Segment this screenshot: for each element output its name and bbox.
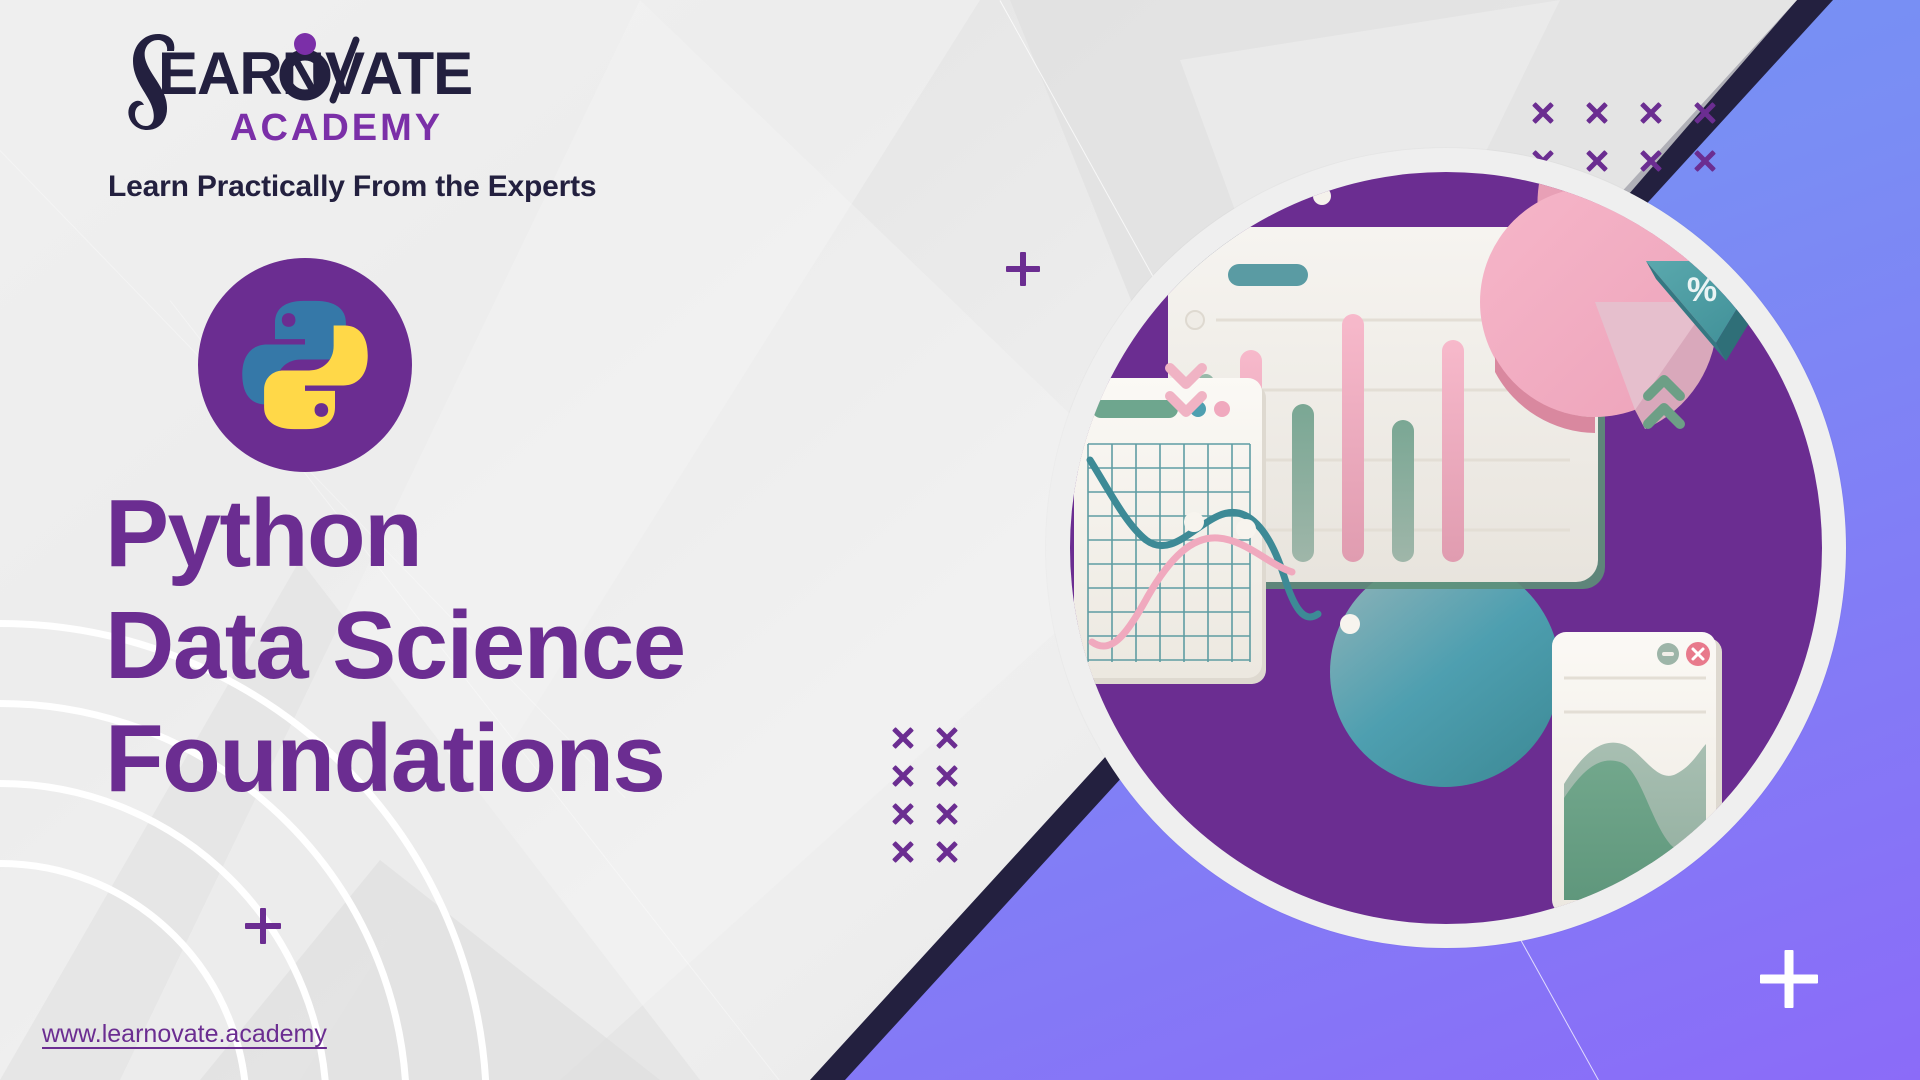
headline-line-3: Foundations — [105, 703, 685, 815]
x-mark-icon — [934, 801, 960, 827]
headline-line-2: Data Science — [105, 590, 685, 702]
x-mark-icon — [1530, 100, 1556, 126]
dots-row — [1241, 187, 1331, 205]
plus-mark-bottom-right — [1760, 950, 1818, 1008]
x-mark-icon — [1638, 148, 1664, 174]
website-url[interactable]: www.learnovate.academy — [42, 1020, 327, 1049]
x-mark-icon — [1584, 100, 1610, 126]
x-mark-icon — [890, 801, 916, 827]
logo-vate-text: VATE — [325, 40, 472, 107]
area-chart-window — [1552, 632, 1722, 920]
x-mark-icon — [890, 725, 916, 751]
x-mark-icon — [1584, 148, 1610, 174]
x-pattern-mid — [890, 725, 978, 877]
data-science-illustration: % — [1070, 172, 1822, 924]
pie-chart: % — [1480, 172, 1776, 433]
python-logo-badge — [198, 258, 412, 472]
brand-logo: EARN VATE ACADEMY — [100, 22, 500, 162]
x-mark-icon — [890, 763, 916, 789]
logo-academy-text: ACADEMY — [230, 107, 443, 149]
x-mark-icon — [934, 763, 960, 789]
x-mark-icon — [934, 725, 960, 751]
x-mark-icon — [934, 839, 960, 865]
page-title: Python Data Science Foundations — [105, 478, 685, 815]
plus-mark-top — [1006, 252, 1040, 286]
x-mark-icon — [890, 839, 916, 865]
x-mark-icon — [1692, 100, 1718, 126]
headline-line-1: Python — [105, 478, 685, 590]
x-mark-icon — [1692, 148, 1718, 174]
x-mark-icon — [1638, 100, 1664, 126]
pie-percent-label: % — [1687, 271, 1717, 309]
sphere-shape — [1330, 557, 1560, 787]
learnovate-logo-svg: EARN VATE ACADEMY — [100, 22, 500, 162]
banner-canvas: EARN VATE ACADEMY Learn Practically From… — [0, 0, 1920, 1080]
python-logo-icon — [230, 290, 380, 440]
plus-mark-bottom-left — [245, 908, 281, 944]
brand-tagline: Learn Practically From the Experts — [108, 170, 596, 204]
illustration-circle: % — [1070, 172, 1822, 924]
